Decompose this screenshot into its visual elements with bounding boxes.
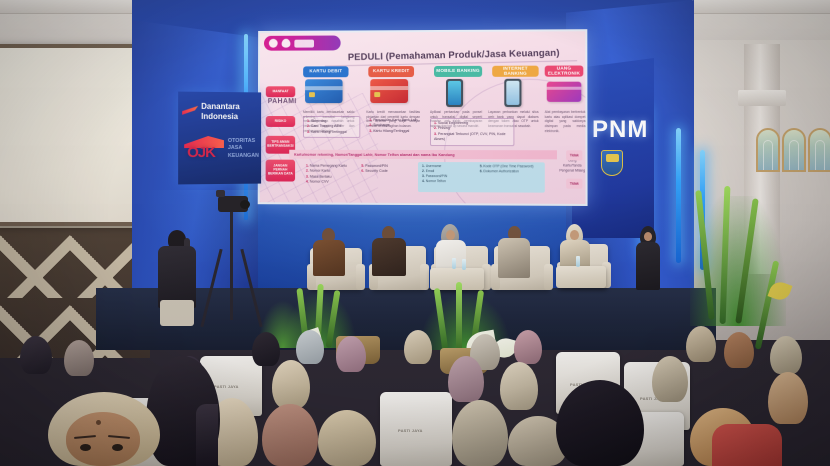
side-tag-jangan: JANGAN PERNAH BERIKAN DATA xyxy=(266,160,295,182)
flame-logo-icon xyxy=(282,39,291,48)
water-bottle xyxy=(452,258,456,269)
side-tag-risiko: RISIKO xyxy=(266,116,295,127)
ojk-logo-icon: OJK xyxy=(184,132,226,166)
slide-warning-strip: Kartu/nomor rekening, Nomor/Tanggal Lahi… xyxy=(289,150,557,160)
product-header-ibanking: INTERNET BANKING xyxy=(492,66,538,77)
regency-crest-icon xyxy=(601,150,623,176)
slide-header-logos xyxy=(264,35,341,50)
arch-window xyxy=(808,128,830,172)
column-capital xyxy=(738,90,786,106)
danantara-swoosh-icon xyxy=(182,106,198,115)
water-bottle xyxy=(462,259,466,270)
product-art-ibanking xyxy=(504,79,521,107)
water-bottle xyxy=(576,256,580,267)
risk-list-left: 1. Skimming 2. Card Trapping ATM 3. Kart… xyxy=(303,116,360,138)
arch-window xyxy=(782,128,806,172)
forehead-mark xyxy=(96,420,101,425)
product-art-kredit xyxy=(370,79,408,103)
product-header-debit: KARTU DEBIT xyxy=(303,66,348,77)
arch-window xyxy=(756,128,780,172)
danantara-banner: Danantara Indonesia OJK OTORITAS JASA KE… xyxy=(178,92,261,185)
risk-list-right: 1. Penusukan Kartu Bank Lain 2. Surcharg… xyxy=(366,116,424,136)
side-tag-manfaat: MANFAAT xyxy=(266,86,295,97)
product-desc-uang-elektronik: Alat pembayaran berbentuk kartu atau apl… xyxy=(545,110,586,133)
chair-label: PASTI JAYA xyxy=(398,428,423,433)
eye xyxy=(80,444,91,451)
chair-label: PASTI JAYA xyxy=(214,384,239,389)
product-art-mbanking xyxy=(446,79,463,107)
slide-cell-tag-2: Tidak xyxy=(566,179,582,189)
product-art-uang-elektronik xyxy=(547,82,582,102)
risk-list-digital: 1. Social Engineering 2. Phising 3. Pera… xyxy=(430,118,514,146)
product-header-uang-elektronik: UANG ELEKTRONIK xyxy=(545,66,584,77)
camera-lens-icon xyxy=(240,200,250,209)
secret-list-card: 1. Nama Pemegang Kartu 2. Nomor Kartu 3.… xyxy=(303,162,352,188)
product-header-kredit: KARTU KREDIT xyxy=(368,66,414,77)
secret-list-digital: 1. Username 2. Email 3. Password/PIN 4. … xyxy=(418,162,545,193)
slide-right-note: Gang Kartu/Tanda Pengenal Milang xyxy=(559,158,585,174)
seminar-photo: PNM PEDULI (Pemahaman Produk/Jasa Keuang… xyxy=(0,0,830,466)
slide-section-label: PAHAMI xyxy=(268,98,297,105)
partner-logo-icon xyxy=(294,39,314,47)
eye xyxy=(112,444,123,451)
secret-list-card-2: 5. Password/PIN 6. Security Code xyxy=(358,162,406,177)
product-art-debit xyxy=(305,79,343,103)
presentation-slide: PEDULI (Pemahaman Produk/Jasa Keuangan) … xyxy=(258,29,588,206)
ojk-subtitle: OTORITAS JASA KEUANGAN xyxy=(228,138,259,160)
slide-cell-tag-1: Tidak xyxy=(566,150,582,160)
danantara-wordmark: Danantara Indonesia xyxy=(201,102,240,121)
coffee-table xyxy=(556,266,606,288)
product-header-mbanking: MOBILE BANKING xyxy=(434,66,482,77)
pnm-logo-text: PNM xyxy=(592,116,648,144)
ojk-logo-icon xyxy=(269,39,278,48)
